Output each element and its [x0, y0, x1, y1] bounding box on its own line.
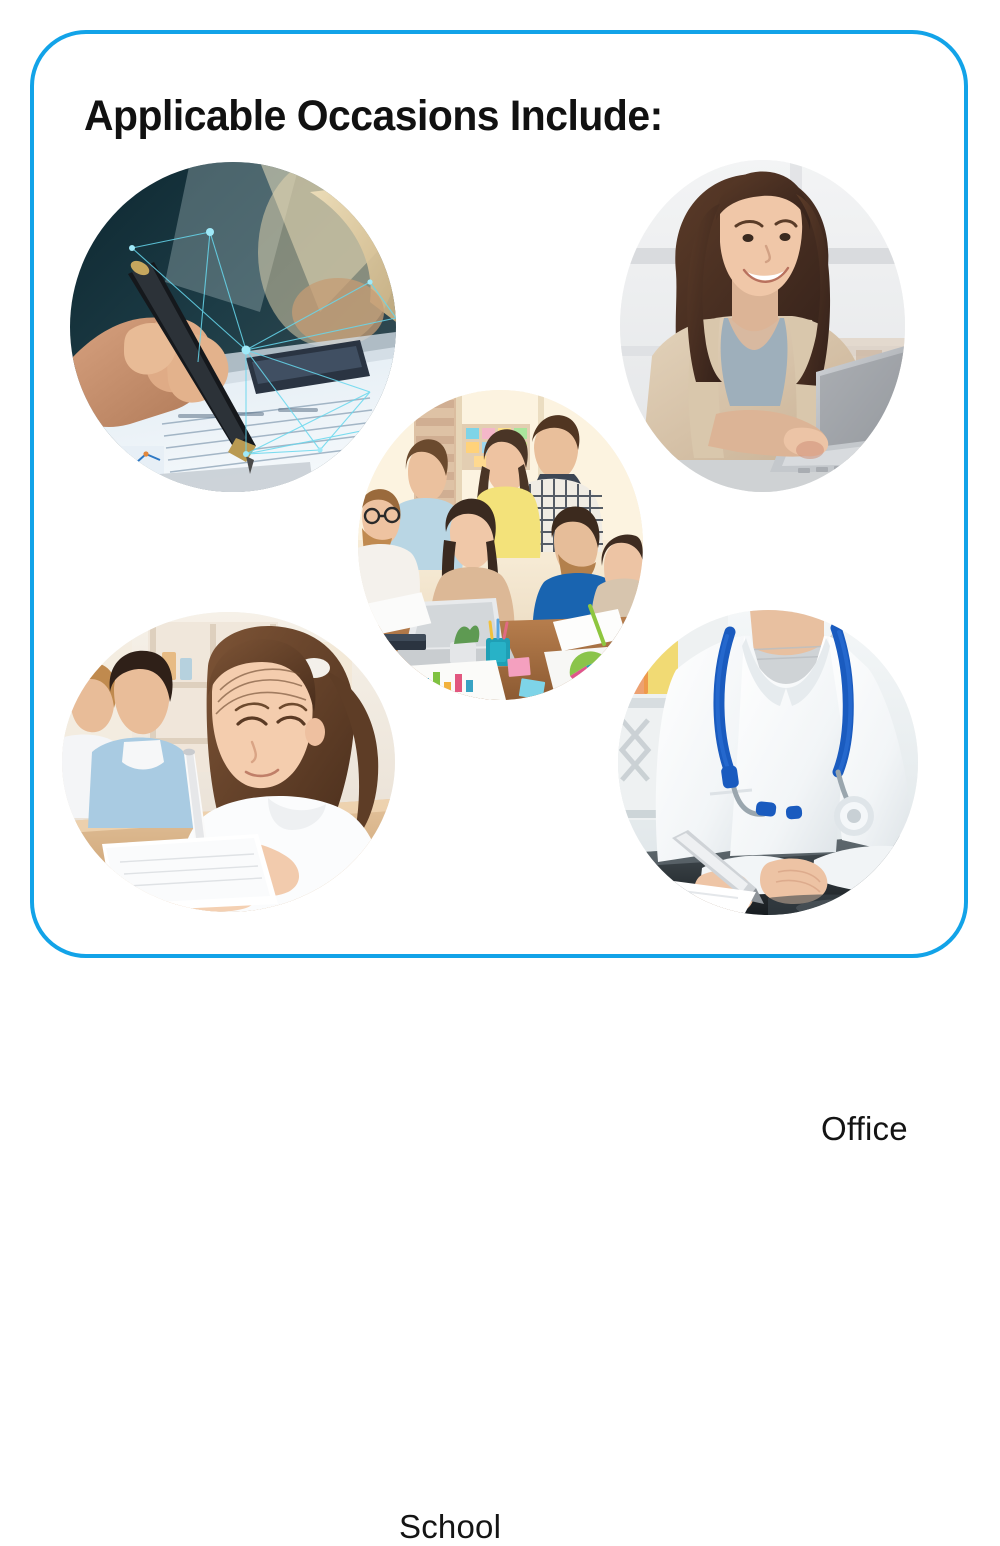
occasion-tile-home: Home — [620, 160, 905, 492]
school-photo — [62, 612, 395, 912]
page-title: Applicable Occasions Include: — [84, 92, 663, 141]
home-photo — [620, 160, 905, 492]
occasion-tile-office: Office — [358, 390, 643, 700]
bank-photo — [70, 162, 396, 492]
occasion-tile-school: School — [62, 612, 395, 912]
health-photo — [618, 610, 918, 915]
occasion-tile-health: Health Care — [618, 610, 918, 915]
occasion-tile-bank: Bank — [70, 162, 396, 492]
office-photo — [358, 390, 643, 700]
caption-school: School — [399, 1508, 501, 1546]
caption-office: Office — [821, 1110, 908, 1148]
poster-canvas: Applicable Occasions Include: — [0, 0, 1000, 1000]
